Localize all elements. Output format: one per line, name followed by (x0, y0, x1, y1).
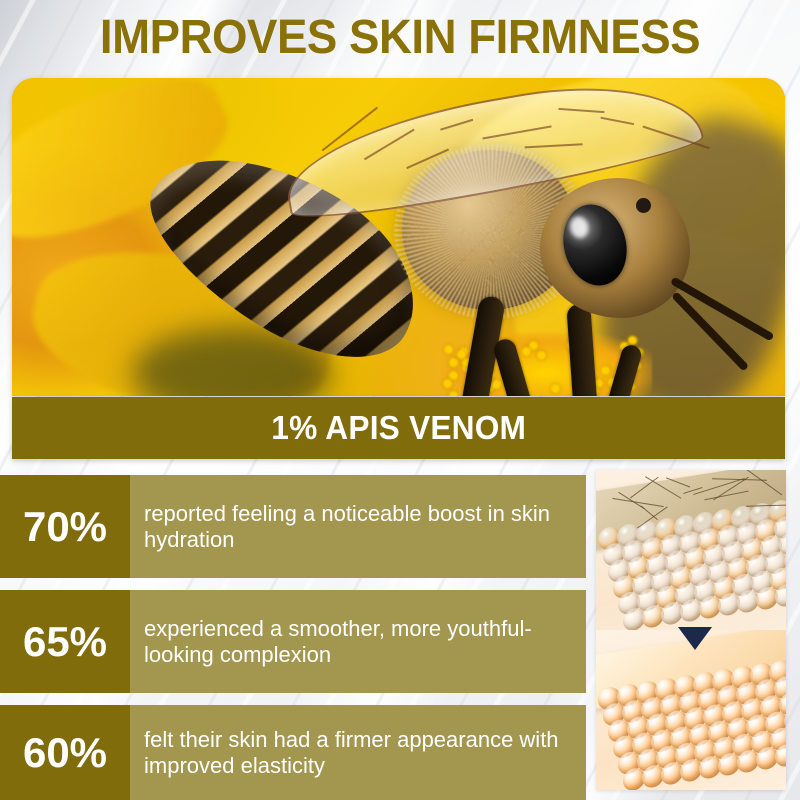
stat-description: experienced a smoother, more youthful-lo… (130, 590, 586, 693)
ingredient-banner: 1% APIS VENOM (12, 397, 785, 459)
bee-illustration (132, 108, 692, 388)
skin-after-panel (596, 630, 786, 790)
stat-row: 60% felt their skin had a firmer appeara… (0, 705, 586, 800)
stat-percent: 70% (0, 475, 130, 578)
stat-row: 70% reported feeling a noticeable boost … (0, 475, 586, 578)
stat-description: felt their skin had a firmer appearance … (130, 705, 586, 800)
ingredient-label: 1% APIS VENOM (271, 409, 526, 447)
stat-percent: 60% (0, 705, 130, 800)
bee-leg (566, 303, 597, 396)
down-triangle-arrow-icon (678, 627, 712, 650)
bee-leg (492, 337, 539, 396)
hero-image (12, 78, 785, 396)
stat-description: reported feeling a noticeable boost in s… (130, 475, 586, 578)
stat-row: 65% experienced a smoother, more youthfu… (0, 590, 586, 693)
skin-before-panel (596, 470, 786, 630)
page-title: IMPROVES SKIN FIRMNESS (20, 6, 780, 68)
stat-percent: 65% (0, 590, 130, 693)
bee-ocellus (636, 198, 651, 213)
